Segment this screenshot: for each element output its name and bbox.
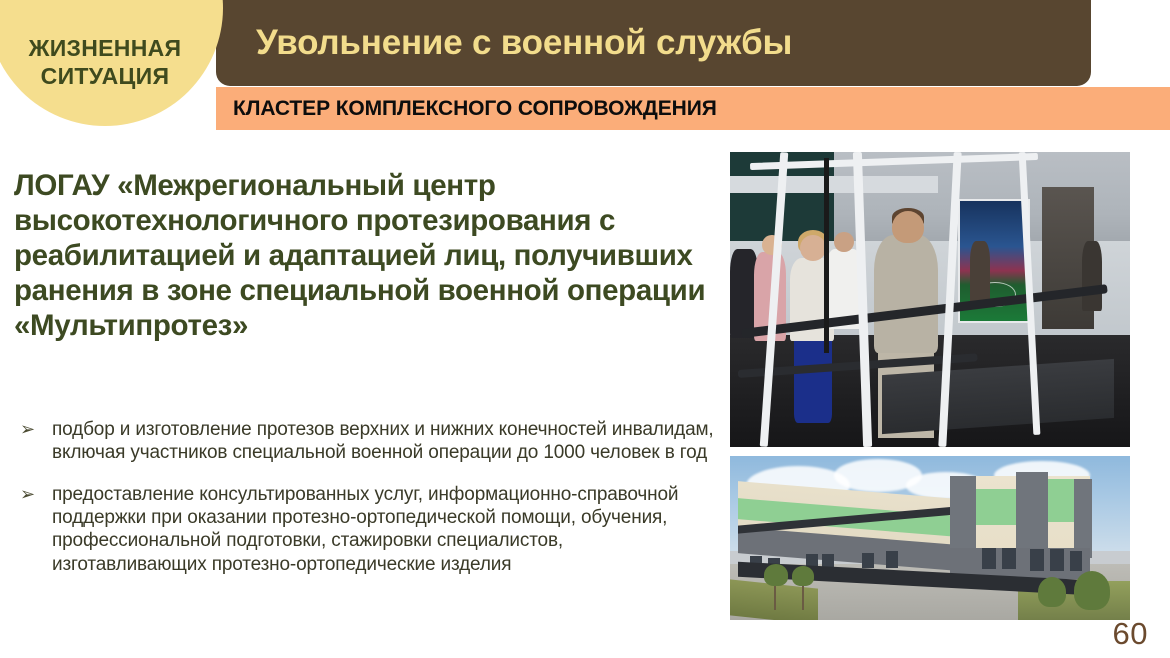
arrow-bullet-icon: ➢ (20, 419, 35, 441)
shrub-1 (1038, 577, 1066, 607)
gym-balcony-slab (730, 176, 938, 194)
list-item: ➢ предоставление консультированных услуг… (14, 483, 720, 576)
building-window-8 (1002, 548, 1016, 569)
shrub-2 (1074, 571, 1110, 610)
building-window-6 (886, 551, 898, 567)
list-item-text: подбор и изготовление протезов верхних и… (52, 419, 714, 463)
badge-label-line2: СИТУАЦИЯ (0, 62, 223, 90)
slide-title: Увольнение с военной службы (256, 23, 792, 63)
tree-crown-1 (764, 564, 788, 585)
gym-patient-body (874, 235, 938, 353)
list-item: ➢ подбор и изготовление протезов верхних… (14, 418, 720, 465)
photo-center-building (730, 456, 1130, 620)
arrow-bullet-icon: ➢ (20, 484, 35, 506)
gym-support-strap (824, 158, 829, 353)
building-window-9 (1030, 549, 1044, 570)
gym-background-person-1 (970, 241, 990, 306)
list-item-text: предоставление консультированных услуг, … (52, 484, 678, 575)
building-front-grey-panel-3 (1074, 479, 1092, 558)
gym-background-person-2 (1082, 241, 1102, 312)
badge-label-line1: ЖИЗНЕННАЯ (0, 34, 223, 62)
life-situation-badge: ЖИЗНЕННАЯ СИТУАЦИЯ (0, 0, 223, 126)
title-bar: Увольнение с военной службы (216, 0, 1091, 86)
building-front-grey-panel-2 (1016, 472, 1048, 547)
presentation-slide: Увольнение с военной службы КЛАСТЕР КОМП… (0, 0, 1170, 658)
building-window-7 (982, 548, 996, 569)
gym-staff-head (834, 232, 854, 253)
page-number: 60 (1113, 616, 1148, 652)
building-front-green-panel-1 (976, 489, 1016, 525)
gym-woman-head (800, 235, 826, 262)
building-window-10 (1050, 549, 1064, 570)
building-window-11 (1070, 551, 1082, 571)
photo-rehabilitation-gym (730, 152, 1130, 447)
building-window-5 (862, 553, 874, 568)
page-title: ЛОГАУ «Межрегиональный центр высокотехно… (14, 168, 714, 343)
bullet-list: ➢ подбор и изготовление протезов верхних… (14, 418, 720, 594)
building-front-grey-panel-1 (950, 476, 976, 548)
slide-subtitle: КЛАСТЕР КОМПЛЕКСНОГО СОПРОВОЖДЕНИЯ (233, 97, 717, 121)
gym-patient-head (892, 211, 924, 243)
tree-crown-2 (792, 566, 814, 586)
badge-label: ЖИЗНЕННАЯ СИТУАЦИЯ (0, 34, 223, 90)
subtitle-bar: КЛАСТЕР КОМПЛЕКСНОГО СОПРОВОЖДЕНИЯ (216, 87, 1170, 130)
